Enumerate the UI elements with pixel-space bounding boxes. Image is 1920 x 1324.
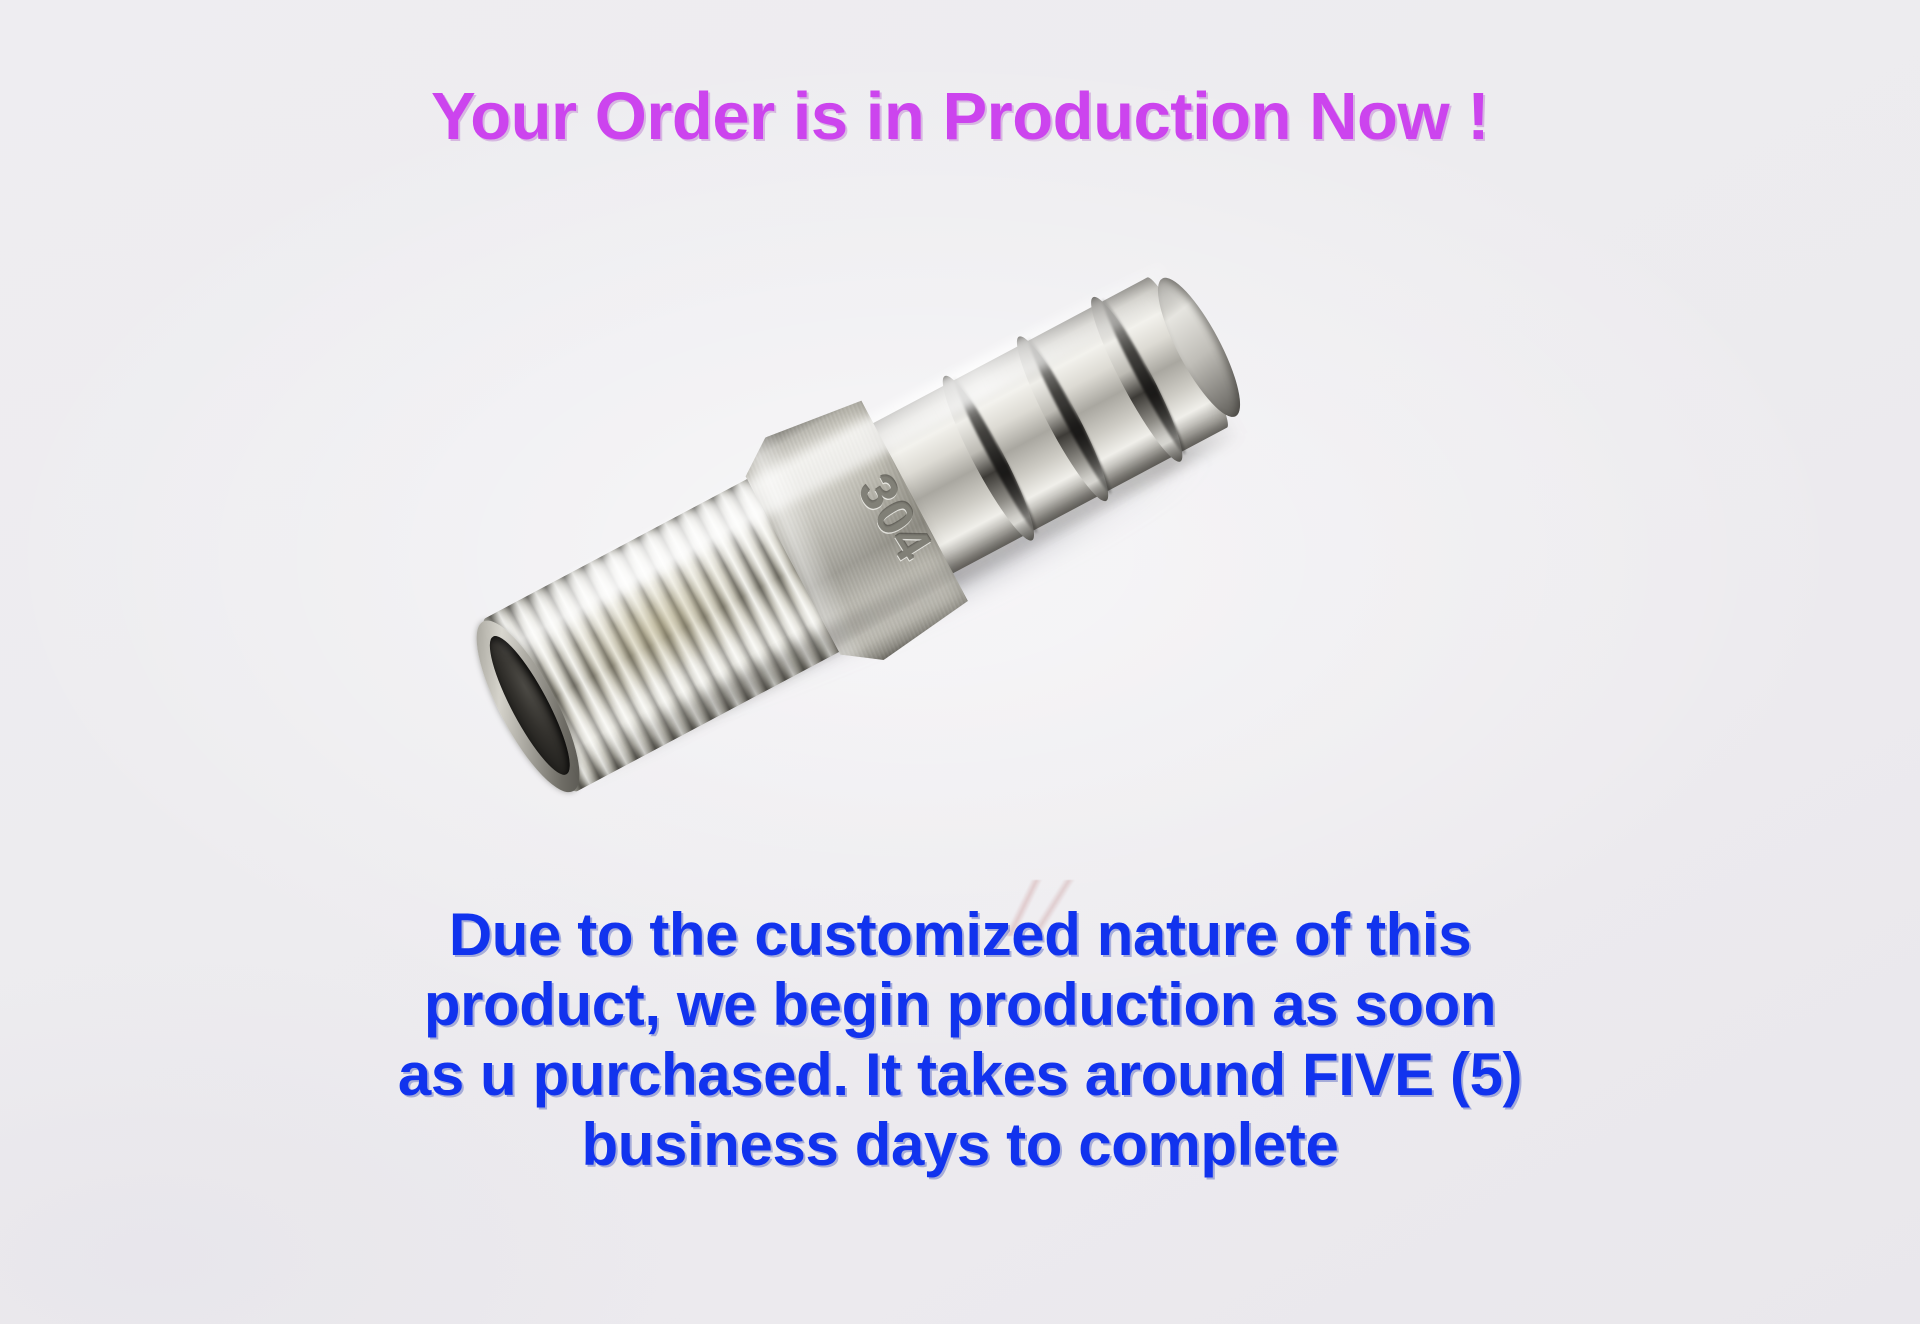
notice-line: as u purchased. It takes around FIVE (5) [0, 1040, 1920, 1110]
production-notice-text: Due to the customized nature of this pro… [0, 900, 1920, 1180]
notice-line: Due to the customized nature of this [0, 900, 1920, 970]
product-photo-fitting: 304 [402, 100, 1388, 953]
notice-line: business days to complete [0, 1110, 1920, 1180]
promo-banner: 304 Your Order is in Production Now ! Du… [0, 0, 1920, 1324]
page-title: Your Order is in Production Now ! [0, 78, 1920, 155]
notice-line: product, we begin production as soon [0, 970, 1920, 1040]
